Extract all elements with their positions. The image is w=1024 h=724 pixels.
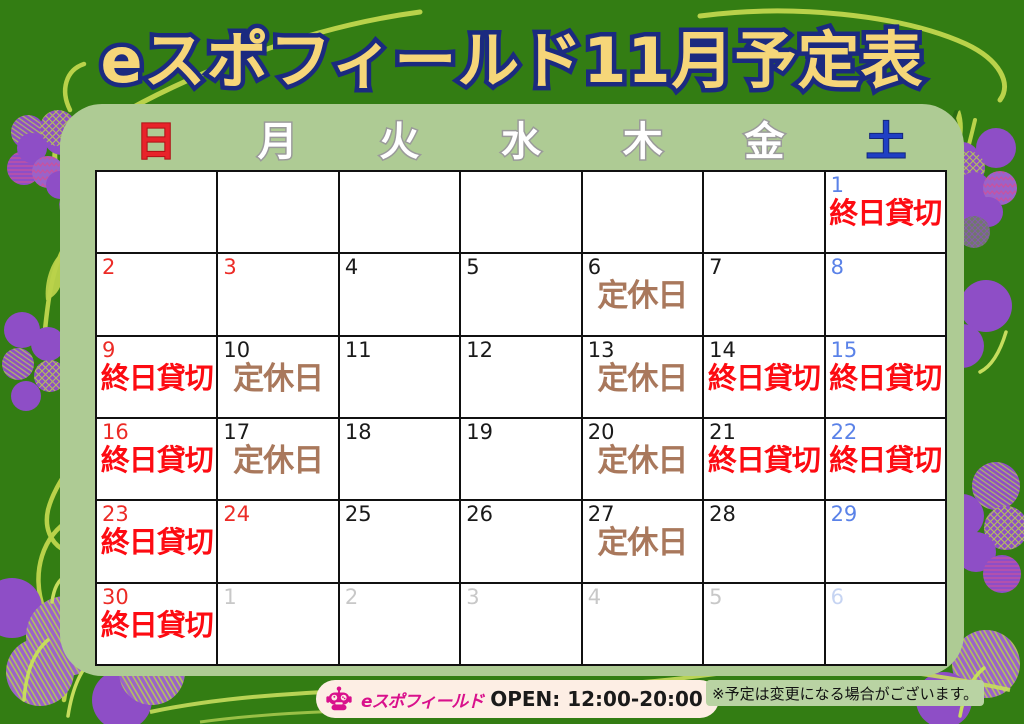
brand-name: eスポフィールド [361,687,483,712]
calendar-cell[interactable] [583,172,702,252]
footer-open-hours: eスポフィールド OPEN: 12:00-20:00 [316,680,719,718]
day-number: 30 [102,586,212,608]
weekday-header-4: 木 [582,116,704,168]
closed-day-label: 定休日 [583,528,702,559]
day-number: 4 [588,586,698,608]
page-title: eスポフィールド11月予定表 [100,30,923,92]
calendar-cell[interactable]: 6定休日 [583,254,702,334]
calendar-cell[interactable]: 8 [826,254,945,334]
day-number: 2 [102,256,212,278]
day-number: 3 [223,256,333,278]
closed-day-label: 定休日 [218,446,337,477]
open-hours-text: OPEN: 12:00-20:00 [490,687,703,711]
calendar-poster: eスポフィールド11月予定表 日月火水木金土 1終日貸切23456定休日789終… [0,0,1024,724]
calendar-cell[interactable]: 3 [461,584,580,664]
day-number: 12 [466,339,576,361]
day-number: 1 [223,586,333,608]
calendar-cell[interactable]: 25 [340,501,459,581]
calendar-cell[interactable]: 16終日貸切 [97,419,216,499]
calendar-cell[interactable]: 5 [461,254,580,334]
fully-reserved-label: 終日貸切 [97,611,216,640]
day-number: 2 [345,586,455,608]
calendar-cell[interactable]: 15終日貸切 [826,337,945,417]
weekday-header-2: 火 [338,116,460,168]
calendar-cell[interactable]: 13定休日 [583,337,702,417]
fully-reserved-label: 終日貸切 [826,364,945,393]
weekday-header-5: 金 [704,116,826,168]
weekday-header-0: 日 [95,116,217,168]
day-number: 28 [709,503,819,525]
calendar-cell[interactable]: 21終日貸切 [704,419,823,499]
fully-reserved-label: 終日貸切 [826,199,945,228]
page-title-wrap: eスポフィールド11月予定表 [0,20,1024,102]
day-number: 16 [102,421,212,443]
calendar-cell[interactable] [218,172,337,252]
day-number: 9 [102,339,212,361]
calendar-cell[interactable]: 2 [340,584,459,664]
calendar-cell[interactable]: 29 [826,501,945,581]
weekday-header-1: 月 [217,116,339,168]
day-number: 8 [831,256,941,278]
calendar-cell[interactable]: 18 [340,419,459,499]
day-number: 5 [709,586,819,608]
day-number: 11 [345,339,455,361]
calendar-cell[interactable]: 1終日貸切 [826,172,945,252]
calendar-cell[interactable]: 1 [218,584,337,664]
fully-reserved-label: 終日貸切 [704,364,823,393]
day-number: 27 [588,503,698,525]
day-number: 4 [345,256,455,278]
weekday-header-6: 土 [825,116,947,168]
calendar-cell[interactable] [704,172,823,252]
weekday-header: 日月火水木金土 [95,116,947,168]
calendar-cell[interactable]: 30終日貸切 [97,584,216,664]
calendar-cell[interactable]: 24 [218,501,337,581]
calendar-cell[interactable]: 10定休日 [218,337,337,417]
calendar-cell[interactable]: 19 [461,419,580,499]
fully-reserved-label: 終日貸切 [97,364,216,393]
day-number: 14 [709,339,819,361]
day-number: 17 [223,421,333,443]
day-number: 1 [831,174,941,196]
day-number: 25 [345,503,455,525]
closed-day-label: 定休日 [583,446,702,477]
day-number: 10 [223,339,333,361]
calendar-cell[interactable]: 27定休日 [583,501,702,581]
fully-reserved-label: 終日貸切 [97,446,216,475]
calendar-cell[interactable]: 9終日貸切 [97,337,216,417]
day-number: 20 [588,421,698,443]
schedule-change-note: ※予定は変更になる場合がございます。 [706,680,984,706]
fully-reserved-label: 終日貸切 [826,446,945,475]
fully-reserved-label: 終日貸切 [704,446,823,475]
calendar-cell[interactable]: 4 [583,584,702,664]
day-number: 6 [831,586,941,608]
calendar-cell[interactable]: 5 [704,584,823,664]
calendar-cell[interactable]: 6 [826,584,945,664]
day-number: 18 [345,421,455,443]
closed-day-label: 定休日 [583,281,702,312]
calendar-cell[interactable]: 7 [704,254,823,334]
calendar-cell[interactable]: 2 [97,254,216,334]
calendar-grid: 1終日貸切23456定休日789終日貸切10定休日111213定休日14終日貸切… [95,170,947,666]
day-number: 15 [831,339,941,361]
calendar-cell[interactable]: 17定休日 [218,419,337,499]
game-robot-mascot-icon [324,684,354,714]
day-number: 29 [831,503,941,525]
calendar-cell[interactable] [97,172,216,252]
closed-day-label: 定休日 [583,364,702,395]
day-number: 21 [709,421,819,443]
calendar-cell[interactable] [461,172,580,252]
day-number: 3 [466,586,576,608]
calendar-cell[interactable] [340,172,459,252]
calendar-cell[interactable]: 14終日貸切 [704,337,823,417]
day-number: 13 [588,339,698,361]
day-number: 23 [102,503,212,525]
day-number: 19 [466,421,576,443]
day-number: 26 [466,503,576,525]
closed-day-label: 定休日 [218,364,337,395]
calendar-cell[interactable]: 4 [340,254,459,334]
day-number: 6 [588,256,698,278]
calendar-cell[interactable]: 20定休日 [583,419,702,499]
calendar-cell[interactable]: 3 [218,254,337,334]
day-number: 7 [709,256,819,278]
weekday-header-3: 水 [460,116,582,168]
calendar-cell[interactable]: 26 [461,501,580,581]
fully-reserved-label: 終日貸切 [97,528,216,557]
calendar-cell[interactable]: 23終日貸切 [97,501,216,581]
calendar-cell[interactable]: 28 [704,501,823,581]
day-number: 5 [466,256,576,278]
calendar-cell[interactable]: 11 [340,337,459,417]
day-number: 22 [831,421,941,443]
day-number: 24 [223,503,333,525]
calendar-cell[interactable]: 22終日貸切 [826,419,945,499]
calendar-cell[interactable]: 12 [461,337,580,417]
